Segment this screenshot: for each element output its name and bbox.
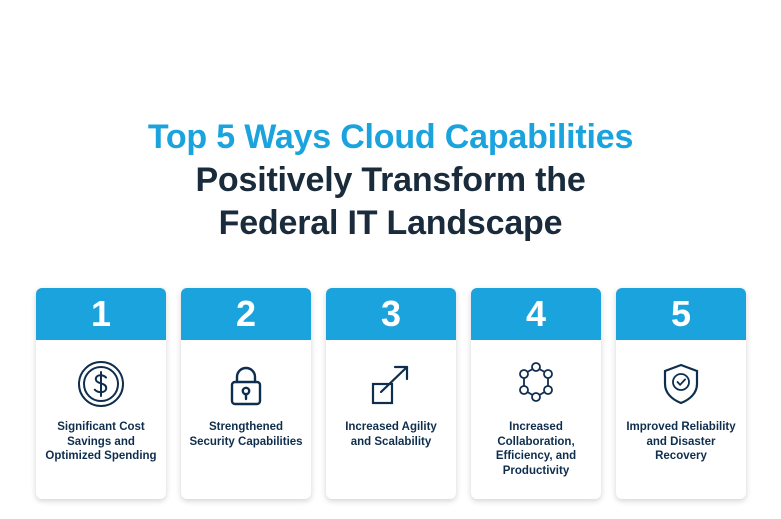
- card-list: 1 Significant Cost Savings and Optimized…: [36, 288, 746, 499]
- card-number-1: 1: [91, 296, 111, 332]
- card-number-3: 3: [381, 296, 401, 332]
- card-label-3: Increased Agility and Scalability: [326, 420, 456, 449]
- dollar-coin-icon: [75, 358, 127, 410]
- card-number-2: 2: [236, 296, 256, 332]
- page-title: Top 5 Ways Cloud Capabilities Positively…: [0, 116, 781, 245]
- card-item-2[interactable]: 2 Strengthened Security Capabilities: [181, 288, 311, 499]
- card-header-1: 1: [36, 288, 166, 340]
- title-line-2: Positively Transform the: [0, 159, 781, 202]
- card-header-3: 3: [326, 288, 456, 340]
- card-number-5: 5: [671, 296, 691, 332]
- card-item-3[interactable]: 3 Increased Agility and Scalability: [326, 288, 456, 499]
- card-header-2: 2: [181, 288, 311, 340]
- card-label-4: Increased Collaboration, Efficiency, and…: [471, 420, 601, 478]
- title-line-1: Top 5 Ways Cloud Capabilities: [0, 116, 781, 159]
- card-number-4: 4: [526, 296, 546, 332]
- infographic-page: Top 5 Ways Cloud Capabilities Positively…: [0, 0, 781, 519]
- card-label-1: Significant Cost Savings and Optimized S…: [36, 420, 166, 464]
- card-item-4[interactable]: 4 Increased Collaboration, Efficiency, a…: [471, 288, 601, 499]
- card-header-5: 5: [616, 288, 746, 340]
- card-header-4: 4: [471, 288, 601, 340]
- network-nodes-icon: [510, 358, 562, 410]
- card-item-1[interactable]: 1 Significant Cost Savings and Optimized…: [36, 288, 166, 499]
- card-label-2: Strengthened Security Capabilities: [181, 420, 311, 449]
- growth-arrow-icon: [365, 358, 417, 410]
- shield-check-icon: [655, 358, 707, 410]
- card-item-5[interactable]: 5 Improved Reliability and Disaster Reco…: [616, 288, 746, 499]
- padlock-icon: [220, 358, 272, 410]
- title-line-3: Federal IT Landscape: [0, 202, 781, 245]
- card-label-5: Improved Reliability and Disaster Recove…: [616, 420, 746, 464]
